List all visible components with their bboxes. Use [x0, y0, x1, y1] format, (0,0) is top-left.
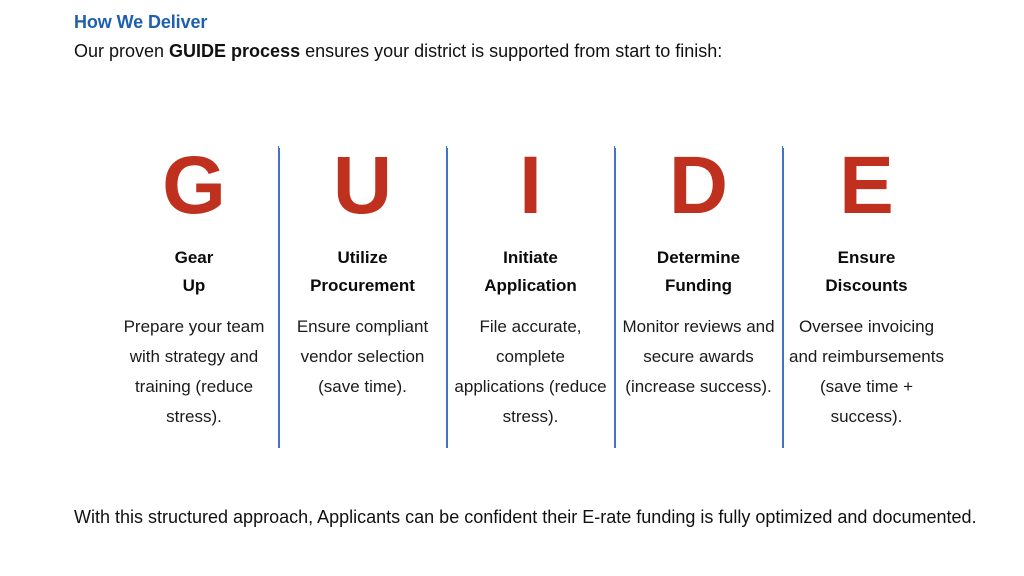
guide-letter-e: E	[789, 146, 944, 230]
guide-description-i: File accurate, complete applications (re…	[453, 312, 608, 432]
guide-description-d: Monitor reviews and secure awards (incre…	[621, 312, 776, 402]
guide-title-g: Gear Up	[116, 244, 272, 300]
guide-column-i: I Initiate Application File accurate, co…	[446, 146, 614, 446]
page-title: How We Deliver	[74, 10, 984, 34]
guide-description-g: Prepare your team with strategy and trai…	[116, 312, 272, 432]
guide-column-u: U Utilize Procurement Ensure compliant v…	[278, 146, 446, 446]
closing-paragraph: With this structured approach, Applicant…	[74, 503, 989, 532]
guide-column-g: G Gear Up Prepare your team with strateg…	[110, 146, 278, 446]
guide-column-e: E Ensure Discounts Oversee invoicing and…	[782, 146, 950, 446]
guide-description-u: Ensure compliant vendor selection (save …	[285, 312, 440, 402]
guide-letter-i: I	[453, 146, 608, 230]
guide-letter-u: U	[285, 146, 440, 230]
guide-letter-d: D	[621, 146, 776, 230]
intro-text-emphasis: GUIDE process	[169, 41, 300, 61]
intro-block: How We Deliver Our proven GUIDE process …	[74, 10, 984, 64]
guide-title-d: Determine Funding	[621, 244, 776, 300]
guide-title-u: Utilize Procurement	[285, 244, 440, 300]
guide-process-table: G Gear Up Prepare your team with strateg…	[110, 146, 950, 446]
guide-title-e: Ensure Discounts	[789, 244, 944, 300]
guide-description-e: Oversee invoicing and reimbursements (sa…	[789, 312, 944, 432]
intro-text-after: ensures your district is supported from …	[300, 41, 722, 61]
guide-letter-g: G	[116, 146, 272, 230]
intro-text-before: Our proven	[74, 41, 169, 61]
intro-sentence: Our proven GUIDE process ensures your di…	[74, 38, 984, 64]
guide-title-i: Initiate Application	[453, 244, 608, 300]
guide-column-d: D Determine Funding Monitor reviews and …	[614, 146, 782, 446]
